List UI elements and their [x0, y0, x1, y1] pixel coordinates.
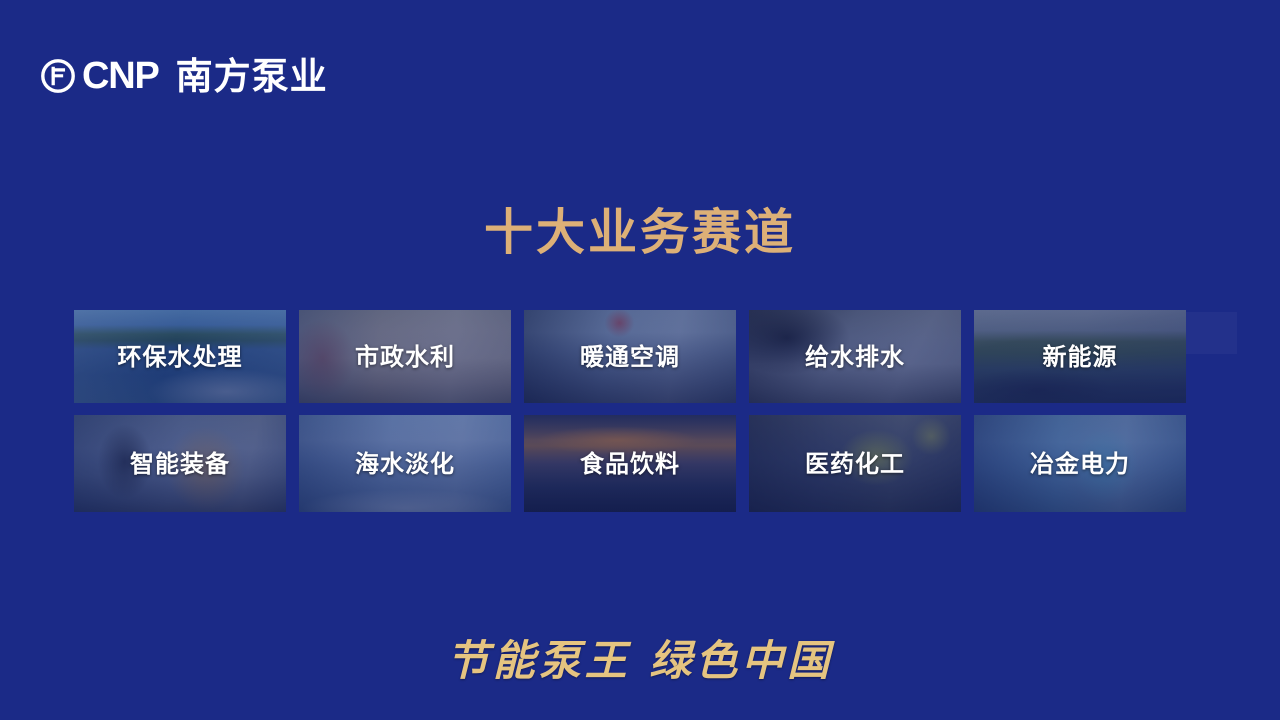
- card-label: 环保水处理: [118, 345, 243, 369]
- slide-canvas: CNP 南方泵业 十大业务赛道 环保水处理 市政水利 暖通空调: [0, 0, 1280, 720]
- card-smart-equipment[interactable]: 智能装备: [74, 415, 286, 512]
- card-label: 新能源: [1043, 345, 1118, 369]
- card-label: 食品饮料: [580, 452, 680, 476]
- card-water-supply-and-drainage[interactable]: 给水排水: [749, 310, 961, 403]
- card-label: 冶金电力: [1030, 452, 1130, 476]
- card-row-1: 环保水处理 市政水利 暖通空调 给水排水 新能源: [74, 310, 1186, 403]
- card-label: 智能装备: [130, 452, 230, 476]
- card-environmental-water-treatment[interactable]: 环保水处理: [74, 310, 286, 403]
- page-title: 十大业务赛道: [0, 206, 1280, 260]
- logo-chinese-text: 南方泵业: [176, 58, 328, 95]
- brand-logo[interactable]: CNP 南方泵业: [41, 52, 328, 100]
- card-hvac[interactable]: 暖通空调: [524, 310, 736, 403]
- business-track-grid: 环保水处理 市政水利 暖通空调 给水排水 新能源: [74, 310, 1186, 512]
- card-metallurgy-and-power[interactable]: 冶金电力: [974, 415, 1186, 512]
- cnp-circle-monogram-icon: [41, 59, 75, 93]
- footer-slogan: 节能泵王 绿色中国: [0, 640, 1280, 682]
- card-label: 市政水利: [355, 345, 455, 369]
- card-label: 给水排水: [805, 345, 905, 369]
- card-row-2: 智能装备 海水淡化 食品饮料 医药化工 冶金电力: [74, 415, 1186, 512]
- background-artifact-rect: [1186, 312, 1237, 354]
- card-municipal-water-conservancy[interactable]: 市政水利: [299, 310, 511, 403]
- card-label: 暖通空调: [580, 345, 680, 369]
- card-new-energy[interactable]: 新能源: [974, 310, 1186, 403]
- card-label: 医药化工: [805, 452, 905, 476]
- card-pharmaceutical-and-chemical[interactable]: 医药化工: [749, 415, 961, 512]
- card-seawater-desalination[interactable]: 海水淡化: [299, 415, 511, 512]
- card-food-and-beverage[interactable]: 食品饮料: [524, 415, 736, 512]
- card-label: 海水淡化: [355, 452, 455, 476]
- logo-latin-text: CNP: [82, 57, 159, 95]
